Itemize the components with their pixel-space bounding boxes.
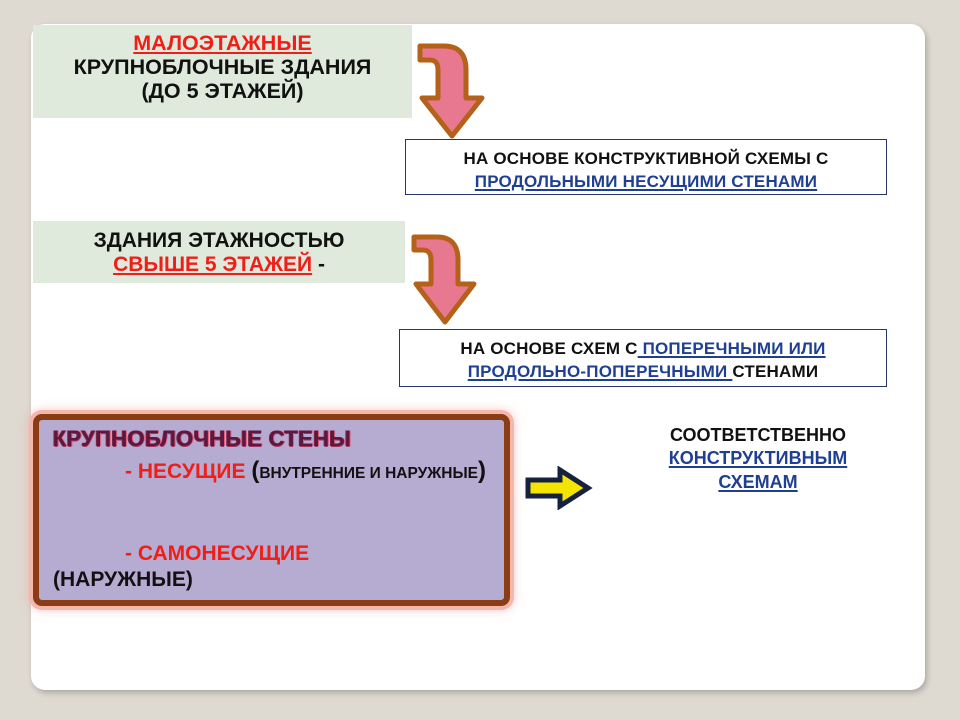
walls-item1-paren-close: ): [478, 457, 486, 484]
low-rise-line3: (ДО 5 ЭТАЖЕЙ): [33, 79, 412, 103]
low-rise-buildings-box: МАЛОЭТАЖНЫЕ КРУПНОБЛОЧНЫЕ ЗДАНИЯ (ДО 5 Э…: [33, 25, 412, 118]
longitudinal-line1: НА ОСНОВЕ КОНСТРУКТИВНОЙ СХЕМЫ С: [416, 148, 876, 171]
transverse-line2-black: СТЕНАМИ: [732, 362, 818, 381]
large-block-walls-box: КРУПНОБЛОЧНЫЕ СТЕНЫ - НЕСУЩИЕ (ВНУТРЕННИ…: [33, 414, 510, 606]
high-rise-highlight: СВЫШЕ 5 ЭТАЖЕЙ: [113, 253, 312, 276]
correspond-line3: СХЕМАМ: [613, 471, 903, 494]
curved-down-arrow-icon-middle: [404, 228, 494, 333]
transverse-line1: НА ОСНОВЕ СХЕМ С ПОПЕРЕЧНЫМИ ИЛИ: [410, 338, 876, 361]
correspond-line2: КОНСТРУКТИВНЫМ: [613, 447, 903, 470]
high-rise-line2: СВЫШЕ 5 ЭТАЖЕЙ -: [33, 253, 405, 277]
high-rise-dash: -: [312, 253, 325, 276]
low-rise-heading: МАЛОЭТАЖНЫЕ: [133, 31, 311, 55]
walls-item-bearing: - НЕСУЩИЕ (ВНУТРЕННИЕ И НАРУЖНЫЕ): [53, 456, 494, 486]
slide-stage: МАЛОЭТАЖНЫЕ КРУПНОБЛОЧНЫЕ ЗДАНИЯ (ДО 5 Э…: [0, 0, 960, 720]
low-rise-line1: МАЛОЭТАЖНЫЕ: [33, 31, 412, 55]
right-arrow-icon: [524, 466, 594, 515]
transverse-line1-blue: ПОПЕРЕЧНЫМИ ИЛИ: [638, 339, 826, 358]
walls-item1-note: ВНУТРЕННИЕ И НАРУЖНЫЕ: [259, 465, 478, 482]
transverse-line2-blue: ПРОДОЛЬНО-ПОПЕРЕЧНЫМИ: [468, 362, 733, 381]
longitudinal-scheme-box: НА ОСНОВЕ КОНСТРУКТИВНОЙ СХЕМЫ С ПРОДОЛЬ…: [405, 139, 887, 195]
walls-item2-black: (НАРУЖНЫЕ): [53, 567, 494, 593]
curved-down-arrow-icon-top: [408, 36, 498, 149]
walls-title: КРУПНОБЛОЧНЫЕ СТЕНЫ: [53, 426, 351, 452]
correspond-note: СООТВЕТСТВЕННО КОНСТРУКТИВНЫМ СХЕМАМ: [613, 424, 903, 494]
longitudinal-line2: ПРОДОЛЬНЫМИ НЕСУЩИМИ СТЕНАМИ: [416, 171, 876, 194]
longitudinal-highlight: ПРОДОЛЬНЫМИ НЕСУЩИМИ СТЕНАМИ: [475, 172, 817, 191]
transverse-line2: ПРОДОЛЬНО-ПОПЕРЕЧНЫМИ СТЕНАМИ: [410, 361, 876, 384]
transverse-scheme-box: НА ОСНОВЕ СХЕМ С ПОПЕРЕЧНЫМИ ИЛИ ПРОДОЛЬ…: [399, 329, 887, 387]
walls-item2-red: - САМОНЕСУЩИЕ: [125, 542, 309, 565]
correspond-highlight-1: КОНСТРУКТИВНЫМ: [669, 448, 847, 468]
high-rise-line1: ЗДАНИЯ ЭТАЖНОСТЬЮ: [33, 229, 405, 253]
low-rise-line2: КРУПНОБЛОЧНЫЕ ЗДАНИЯ: [33, 55, 412, 79]
walls-item1-red: НЕСУЩИЕ: [138, 460, 246, 483]
walls-item-self-bearing: - САМОНЕСУЩИЕ (НАРУЖНЫЕ): [53, 541, 494, 594]
high-rise-buildings-box: ЗДАНИЯ ЭТАЖНОСТЬЮ СВЫШЕ 5 ЭТАЖЕЙ -: [33, 221, 405, 283]
correspond-line1: СООТВЕТСТВЕННО: [613, 424, 903, 447]
walls-item1-dash: -: [125, 460, 132, 483]
transverse-line1-black: НА ОСНОВЕ СХЕМ С: [460, 339, 637, 358]
correspond-highlight-2: СХЕМАМ: [718, 472, 797, 492]
